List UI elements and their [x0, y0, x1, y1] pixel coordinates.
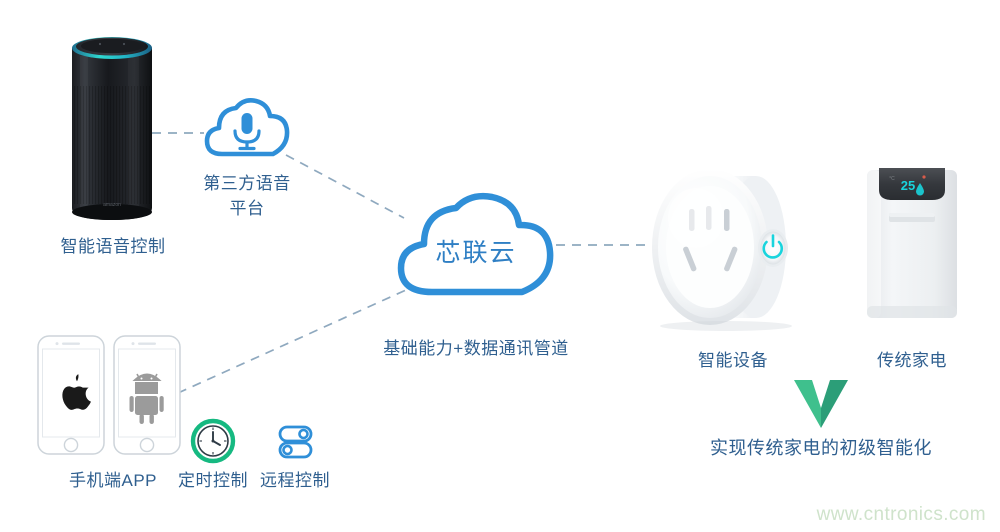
svg-text:amazon: amazon: [103, 202, 121, 208]
voice-cloud-label-line2: 平台: [187, 197, 307, 220]
voice-speaker-label: 智能语音控制: [48, 232, 178, 257]
smart-plug-label: 智能设备: [668, 346, 798, 371]
center-cloud-caption: 基础能力+数据通讯管道: [356, 334, 596, 359]
diagram-canvas: amazon 智能语音控制 第三方语音 平台 芯联云 基础能力+数据通讯管道: [0, 0, 1000, 532]
phones-label: 手机端APP: [48, 466, 178, 491]
phone-android: [114, 336, 180, 454]
clock-icon: [190, 418, 236, 464]
down-chevron-arrow-icon: [792, 378, 850, 428]
smart-plug-icon: [648, 162, 820, 332]
appliance-label: 传统家电: [847, 346, 977, 371]
water-heater-icon: 25 °C: [862, 166, 962, 322]
appliance-display-value: 25: [901, 178, 915, 193]
remote-label: 远程控制: [255, 466, 335, 491]
phones-group: [36, 334, 182, 458]
center-cloud-title: 芯联云: [398, 233, 554, 269]
watermark: www.cntronics.com: [817, 504, 986, 526]
timer-label: 定时控制: [173, 466, 253, 491]
toggle-switches-icon: [272, 418, 318, 464]
outcome-label: 实现传统家电的初级智能化: [690, 434, 952, 460]
cloud-microphone-icon: [200, 96, 294, 162]
amazon-echo-speaker-icon: amazon: [68, 26, 156, 226]
svg-text:°C: °C: [889, 176, 895, 182]
voice-cloud-label-line1: 第三方语音: [187, 172, 307, 195]
